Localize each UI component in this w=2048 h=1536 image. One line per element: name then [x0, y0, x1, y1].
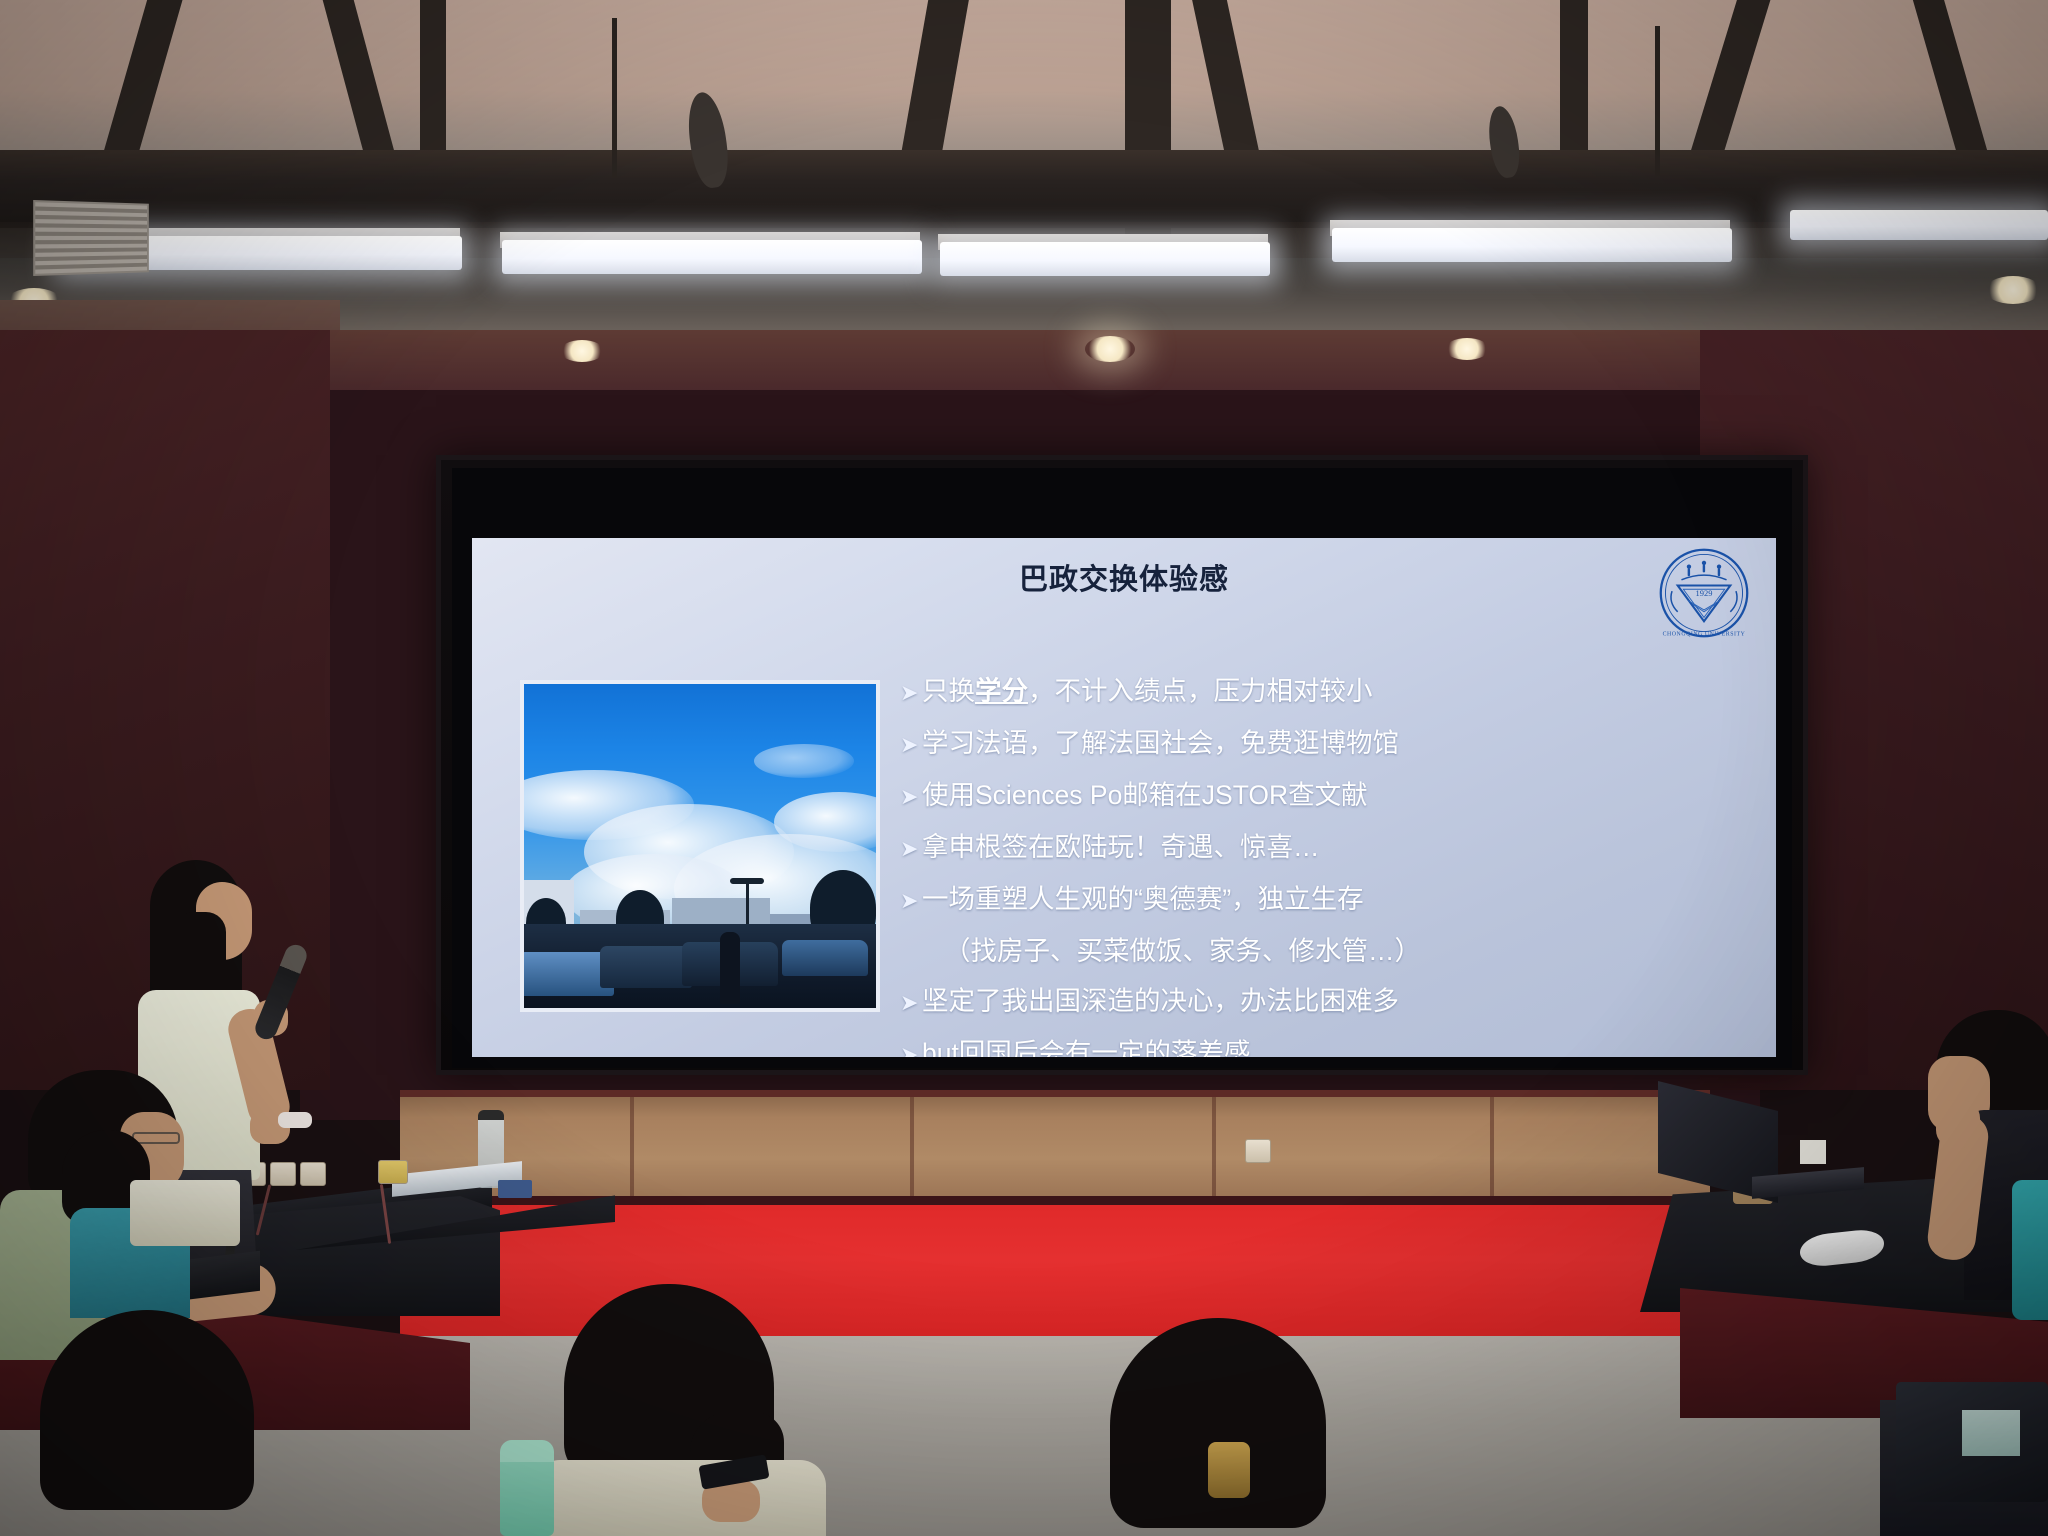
bullet-text-pre: 一场重塑人生观的“奥德赛”，独立生存 — [922, 884, 1364, 914]
bullet-text-highlight: 学分 — [975, 676, 1028, 706]
bullet-item: ➤使用Sciences Po邮箱在JSTOR查文献 — [900, 770, 1760, 822]
slide-photo — [520, 680, 880, 1012]
wainscot-seam — [1212, 1097, 1216, 1200]
bullet-arrow-icon: ➤ — [900, 876, 922, 926]
fluorescent-light-4 — [1332, 228, 1732, 262]
hair-clip — [1208, 1442, 1250, 1498]
photo-street-lamp-head — [730, 878, 764, 884]
bullet-item: ➤but回国后会有一定的落差感 — [900, 1028, 1760, 1057]
bullet-item: ➤坚定了我出国深造的决心，办法比困难多 — [900, 976, 1760, 1028]
spotlight-above-screen — [1085, 336, 1135, 362]
desk-device — [498, 1180, 532, 1198]
slide-title: 巴政交换体验感 — [472, 556, 1776, 598]
svg-text:CHONGQING UNIVERSITY: CHONGQING UNIVERSITY — [1663, 631, 1746, 637]
bullet-arrow-icon: ➤ — [900, 720, 922, 770]
bullet-text-pre: 坚定了我出国深造的决心，办法比困难多 — [922, 986, 1399, 1016]
wainscot-seam — [630, 1097, 634, 1200]
chongqing-university-seal-icon: 1929 CHONGQING UNIVERSITY — [1657, 546, 1751, 640]
spotlight-above-screen — [1445, 338, 1489, 360]
wainscot-seam — [1490, 1097, 1494, 1200]
desk-note-card — [1800, 1140, 1826, 1164]
bullet-text-pre: 使用Sciences Po邮箱在JSTOR查文献 — [922, 780, 1368, 810]
wainscot-seam — [910, 1097, 914, 1200]
light-hanger-rod — [1655, 26, 1660, 176]
bullet-subitem: （找房子、买菜做饭、家务、修水管…） — [900, 926, 1760, 976]
photo-car — [600, 946, 692, 988]
bullet-text-post: ，不计入绩点，压力相对较小 — [1028, 676, 1373, 706]
bullet-arrow-icon: ➤ — [900, 824, 922, 874]
bullet-text-pre: 学习法语，了解法国社会，免费逛博物馆 — [922, 728, 1399, 758]
wall-outlet — [1245, 1139, 1271, 1163]
photo-pedestrian — [720, 932, 740, 1004]
bullet-arrow-icon: ➤ — [900, 1030, 922, 1057]
slide-bullet-list: ➤只换学分，不计入绩点，压力相对较小 ➤学习法语，了解法国社会，免费逛博物馆 ➤… — [900, 666, 1760, 1057]
student-front-right — [1090, 1318, 1360, 1536]
mint-thermos — [500, 1440, 554, 1536]
air-conditioning-vent — [33, 200, 149, 276]
fluorescent-light-2 — [502, 240, 922, 274]
bullet-item: ➤一场重塑人生观的“奥德赛”，独立生存 — [900, 874, 1760, 926]
truss-main-beam — [0, 150, 2048, 228]
recessed-downlight — [1985, 276, 2041, 304]
student-front-left — [40, 1310, 270, 1536]
photo-cloud — [754, 744, 854, 778]
light-hanger-rod — [612, 18, 617, 178]
svg-text:1929: 1929 — [1696, 588, 1713, 598]
bullet-text-pre: 拿申根签在欧陆玩！奇遇、惊喜… — [922, 832, 1320, 862]
bullet-arrow-icon: ➤ — [900, 978, 922, 1028]
bullet-arrow-icon: ➤ — [900, 772, 922, 822]
chair-right — [2012, 1180, 2048, 1320]
fluorescent-light-3 — [940, 242, 1270, 276]
bullet-item: ➤只换学分，不计入绩点，压力相对较小 — [900, 666, 1760, 718]
bullet-item: ➤拿申根签在欧陆玩！奇遇、惊喜… — [900, 822, 1760, 874]
truss-beam-vertical — [420, 0, 446, 170]
truss-beam-vertical — [1560, 0, 1588, 170]
fluorescent-light-5 — [1790, 210, 2048, 240]
student-front-center — [540, 1284, 820, 1536]
stage-wainscot-panel — [400, 1090, 1710, 1200]
photo-car — [782, 940, 868, 976]
bullet-text-pre: but回国后会有一定的落差感 — [922, 1038, 1250, 1057]
lecture-hall-scene: 巴政交换体验感 1929 CHONGQING UNIVERSITY — [0, 0, 2048, 1536]
wall-outlet-yellow — [378, 1160, 408, 1184]
student-bag — [130, 1180, 240, 1246]
bullet-item: ➤学习法语，了解法国社会，免费逛博物馆 — [900, 718, 1760, 770]
spotlight-above-screen — [560, 340, 604, 362]
bullet-text-pre: （找房子、买菜做饭、家务、修水管…） — [944, 936, 1421, 966]
bullet-arrow-icon: ➤ — [900, 668, 922, 718]
sticky-note — [1962, 1410, 2020, 1456]
student-shirt — [534, 1460, 826, 1536]
student-hair — [40, 1310, 254, 1510]
student-hand-on-chin — [1936, 1100, 1980, 1148]
bullet-text-pre: 只换 — [922, 676, 975, 706]
presentation-slide: 巴政交换体验感 1929 CHONGQING UNIVERSITY — [472, 538, 1776, 1057]
